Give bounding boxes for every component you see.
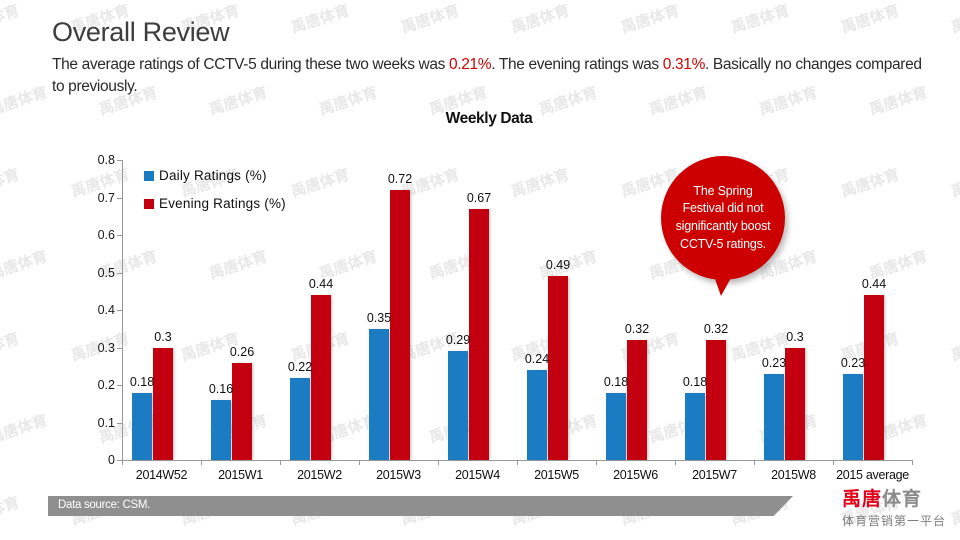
callout-text: The Spring Festival did not significantl… [661, 156, 785, 280]
bar-daily-ratings[interactable] [132, 393, 152, 461]
page-title: Overall Review [52, 18, 932, 48]
y-axis-tick-label: 0.2 [98, 378, 115, 392]
x-axis-category-label: 2015W2 [297, 468, 342, 482]
bar-evening-ratings[interactable] [864, 295, 884, 460]
y-axis-tick-label: 0.1 [98, 416, 115, 430]
bar-value-label-daily: 0.29 [446, 333, 470, 347]
bar-value-label-daily: 0.35 [367, 311, 391, 325]
bar-evening-ratings[interactable] [311, 295, 331, 460]
data-source-label: Data source: CSM. [58, 499, 150, 511]
x-axis-tick-mark [833, 460, 834, 465]
bar-value-label-evening: 0.3 [154, 330, 171, 344]
x-axis-category-label: 2015W7 [692, 468, 737, 482]
bar-evening-ratings[interactable] [785, 348, 805, 461]
x-axis-tick-mark [438, 460, 439, 465]
logo-tagline: 体育营销第一平台 [842, 512, 946, 529]
bar-evening-ratings[interactable] [627, 340, 647, 460]
bar-evening-ratings[interactable] [390, 190, 410, 460]
bar-group [517, 160, 596, 460]
x-axis-tick-mark [912, 460, 913, 465]
bar-value-label-evening: 0.3 [786, 330, 803, 344]
bar-value-label-evening: 0.67 [467, 191, 491, 205]
bar-daily-ratings[interactable] [211, 400, 231, 460]
bar-daily-ratings[interactable] [290, 378, 310, 461]
bar-value-label-daily: 0.18 [604, 375, 628, 389]
bar-group [201, 160, 280, 460]
page-subtitle: The average ratings of CCTV-5 during the… [52, 54, 932, 98]
bar-value-label-daily: 0.22 [288, 360, 312, 374]
watermark-text: 禹唐体育 [0, 0, 22, 38]
brand-logo: 禹唐体育 体育营销第一平台 [842, 490, 946, 529]
logo-gray-text: 体育 [882, 488, 922, 510]
y-axis-tick-label: 0.7 [98, 191, 115, 205]
slide-canvas: 禹唐体育禹唐体育禹唐体育禹唐体育禹唐体育禹唐体育禹唐体育禹唐体育禹唐体育禹唐体育… [0, 0, 960, 540]
y-axis-tick-label: 0.5 [98, 266, 115, 280]
bar-daily-ratings[interactable] [764, 374, 784, 460]
bar-evening-ratings[interactable] [548, 276, 568, 460]
x-axis-tick-mark [675, 460, 676, 465]
header: Overall Review The average ratings of CC… [52, 18, 932, 98]
x-axis-category-label: 2015W5 [534, 468, 579, 482]
x-axis-category-label: 2015 average [836, 468, 909, 482]
bar-value-label-daily: 0.16 [209, 382, 233, 396]
x-axis-category-label: 2014W52 [136, 468, 187, 482]
x-axis-tick-mark [596, 460, 597, 465]
y-axis-tick-label: 0.3 [98, 341, 115, 355]
subtitle-text-1: The average ratings of CCTV-5 during the… [52, 56, 449, 73]
spring-festival-callout: The Spring Festival did not significantl… [661, 156, 785, 280]
footer: Data source: CSM. 禹唐体育 体育营销第一平台 [0, 488, 960, 540]
logo-red-text: 禹唐 [842, 488, 882, 510]
x-axis-category-label: 2015W3 [376, 468, 421, 482]
bar-value-label-daily: 0.18 [130, 375, 154, 389]
bar-daily-ratings[interactable] [448, 351, 468, 460]
source-bar [48, 496, 793, 516]
bar-group [438, 160, 517, 460]
x-axis-category-label: 2015W6 [613, 468, 658, 482]
x-axis-tick-mark [517, 460, 518, 465]
bar-group [122, 160, 201, 460]
bar-value-label-daily: 0.23 [762, 356, 786, 370]
y-axis-tick-label: 0.6 [98, 228, 115, 242]
bar-value-label-daily: 0.24 [525, 352, 549, 366]
bar-value-label-daily: 0.23 [841, 356, 865, 370]
y-axis-tick-label: 0 [108, 453, 115, 467]
bar-evening-ratings[interactable] [469, 209, 489, 460]
chart-title: Weekly Data [0, 110, 960, 128]
subtitle-highlight-average: 0.21% [449, 56, 491, 73]
bar-value-label-evening: 0.26 [230, 345, 254, 359]
bar-value-label-evening: 0.44 [862, 277, 886, 291]
x-axis-tick-mark [122, 460, 123, 465]
x-axis-tick-mark [280, 460, 281, 465]
weekly-data-chart: Weekly Data Daily Ratings (%)Evening Rat… [0, 100, 960, 490]
subtitle-highlight-evening: 0.31% [663, 56, 705, 73]
bar-daily-ratings[interactable] [843, 374, 863, 460]
bar-value-label-evening: 0.32 [704, 322, 728, 336]
subtitle-text-2: . The evening ratings was [491, 56, 663, 73]
bar-value-label-evening: 0.32 [625, 322, 649, 336]
bar-group [833, 160, 912, 460]
bar-value-label-daily: 0.18 [683, 375, 707, 389]
logo-wordmark: 禹唐体育 [842, 490, 946, 510]
bar-value-label-evening: 0.72 [388, 172, 412, 186]
bar-value-label-evening: 0.49 [546, 258, 570, 272]
bar-evening-ratings[interactable] [706, 340, 726, 460]
x-axis-tick-mark [201, 460, 202, 465]
x-axis-category-label: 2015W8 [771, 468, 816, 482]
plot-area: Daily Ratings (%)Evening Ratings (%) 00.… [122, 160, 912, 460]
bar-evening-ratings[interactable] [153, 348, 173, 461]
bar-value-label-evening: 0.44 [309, 277, 333, 291]
x-axis-tick-mark [754, 460, 755, 465]
y-axis-tick-label: 0.4 [98, 303, 115, 317]
y-axis-tick-label: 0.8 [98, 153, 115, 167]
bar-daily-ratings[interactable] [369, 329, 389, 460]
bar-daily-ratings[interactable] [606, 393, 626, 461]
bar-evening-ratings[interactable] [232, 363, 252, 461]
bar-daily-ratings[interactable] [685, 393, 705, 461]
x-axis-tick-mark [359, 460, 360, 465]
bar-group [280, 160, 359, 460]
x-axis-category-label: 2015W1 [218, 468, 263, 482]
bar-daily-ratings[interactable] [527, 370, 547, 460]
watermark-text: 禹唐体育 [948, 0, 960, 38]
x-axis-category-label: 2015W4 [455, 468, 500, 482]
